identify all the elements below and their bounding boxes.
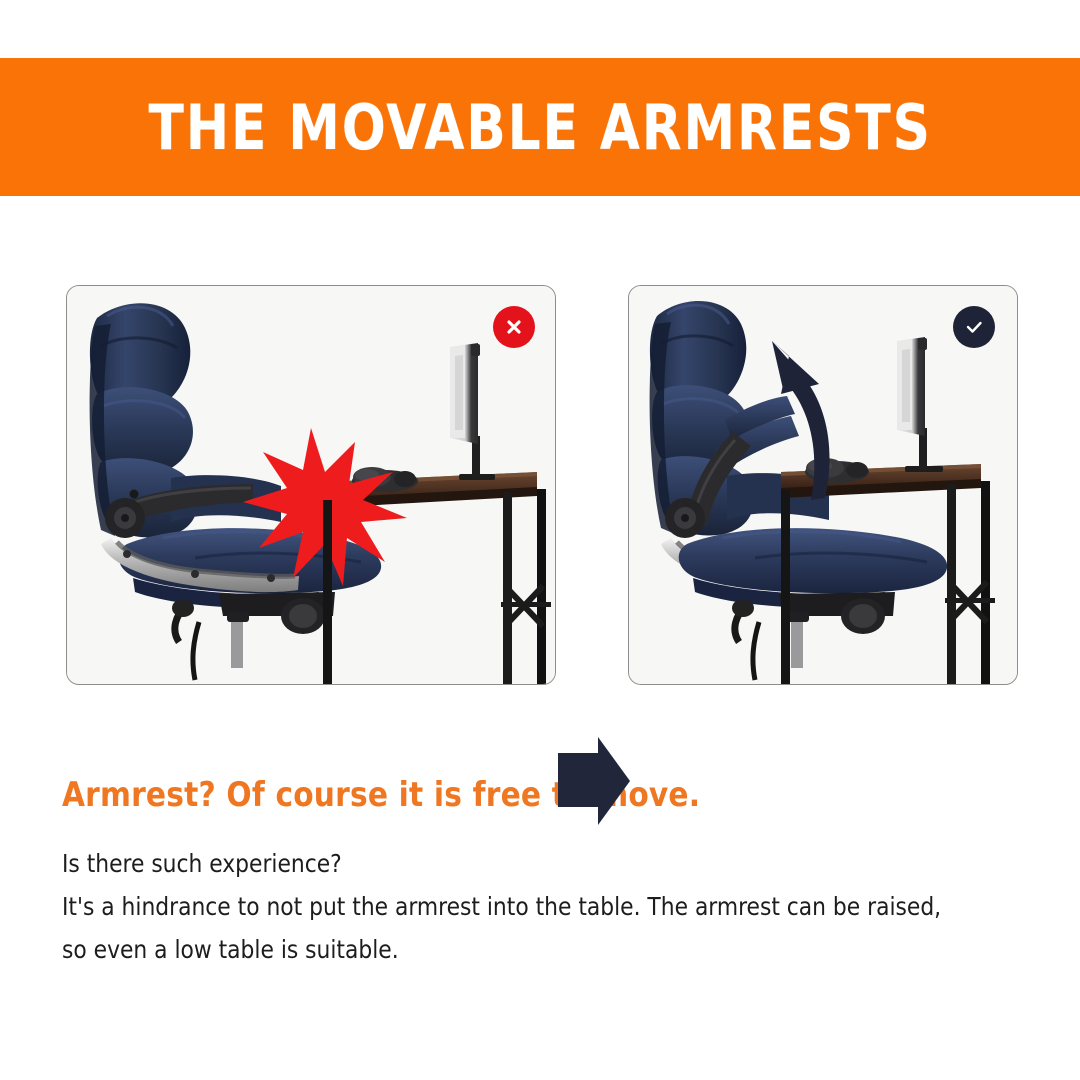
title-banner: THE MOVABLE ARMRESTS <box>0 58 1080 196</box>
cross-circle-icon <box>493 306 535 348</box>
infographic-page: THE MOVABLE ARMRESTS <box>0 0 1080 1080</box>
check-circle-icon <box>953 306 995 348</box>
section-body-copy: Is there such experience? It's a hindran… <box>62 842 974 971</box>
page-title: THE MOVABLE ARMRESTS <box>148 91 931 164</box>
body-line-2: It's a hindrance to not put the armrest … <box>62 885 974 928</box>
body-line-1: Is there such experience? <box>62 842 974 885</box>
good-scene-illustration <box>629 286 1017 684</box>
right-arrow-icon <box>556 735 632 827</box>
bad-example-panel <box>66 285 556 685</box>
good-example-panel <box>628 285 1018 685</box>
good-scene <box>629 286 1017 684</box>
bad-scene-illustration <box>67 286 555 684</box>
comparison-panels <box>0 285 1080 687</box>
body-line-3: so even a low table is suitable. <box>62 928 974 971</box>
bad-scene <box>67 286 555 684</box>
desk-front-leg-overlay <box>323 500 332 684</box>
